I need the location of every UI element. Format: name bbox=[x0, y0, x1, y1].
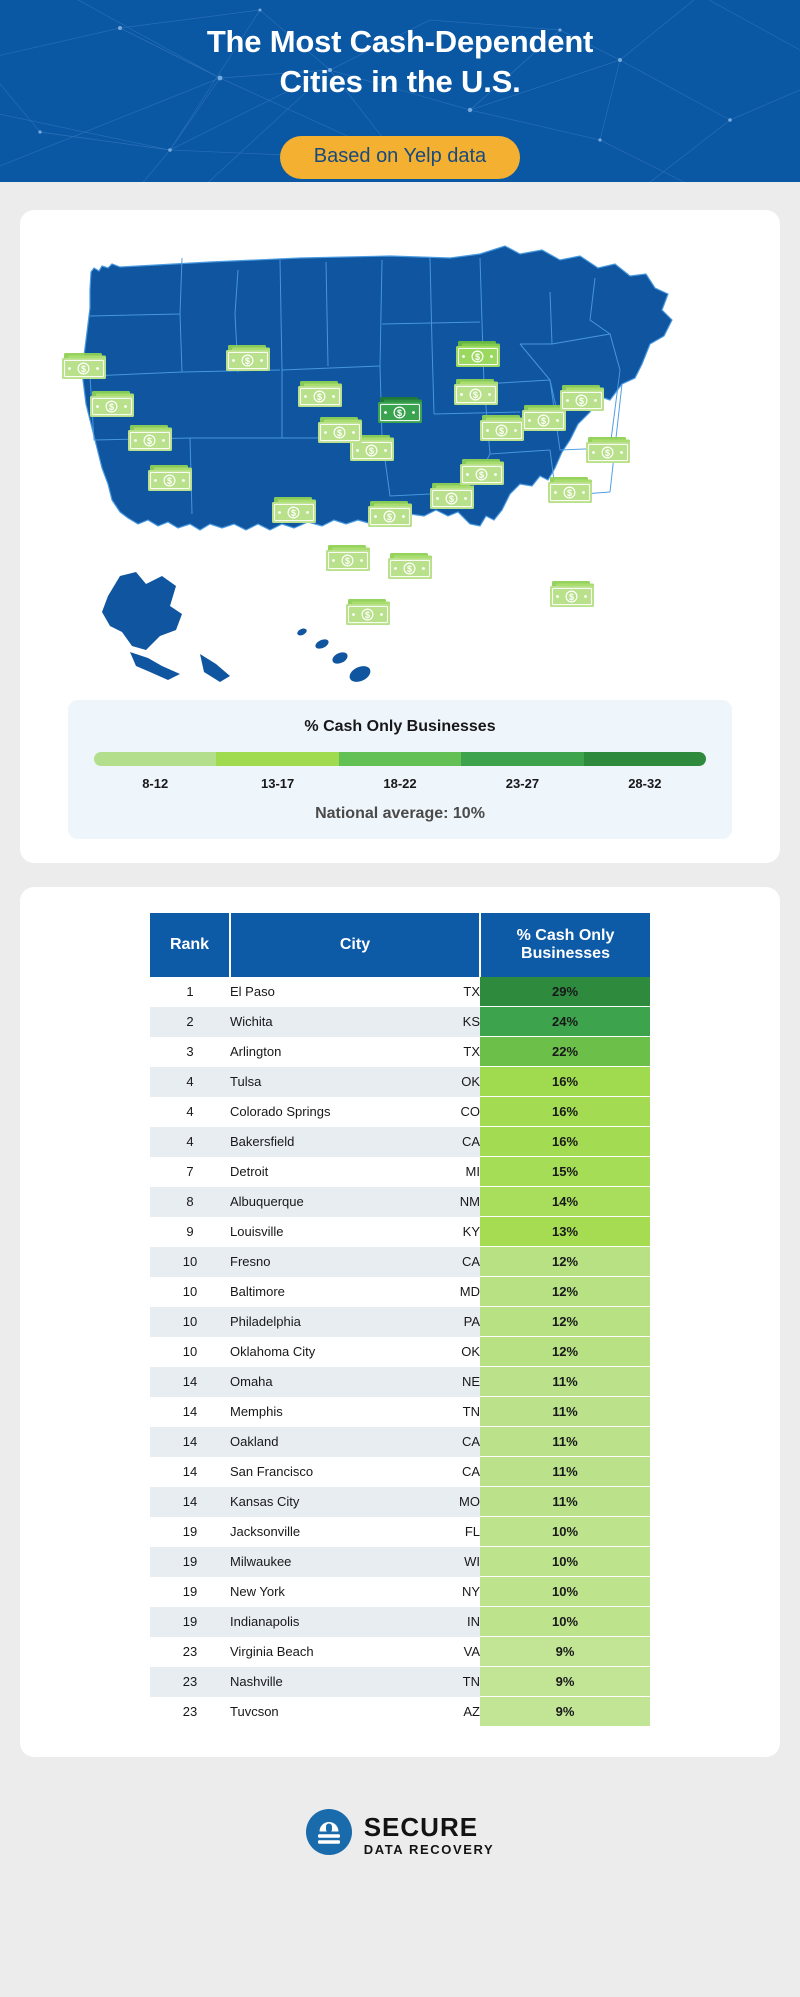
cell-city: Philadelphia bbox=[230, 1307, 355, 1337]
cell-percent: 16% bbox=[480, 1067, 650, 1097]
cell-rank: 10 bbox=[150, 1337, 230, 1367]
cell-rank: 23 bbox=[150, 1697, 230, 1727]
ranking-table-card: Rank City % Cash Only Businesses 1El Pas… bbox=[20, 887, 780, 1757]
cell-city: Jacksonville bbox=[230, 1517, 355, 1547]
cell-state: CA bbox=[355, 1427, 480, 1457]
table-row: 14MemphisTN11% bbox=[150, 1397, 650, 1427]
cell-rank: 4 bbox=[150, 1067, 230, 1097]
cell-rank: 3 bbox=[150, 1037, 230, 1067]
table-row: 19New YorkNY10% bbox=[150, 1577, 650, 1607]
cell-rank: 7 bbox=[150, 1157, 230, 1187]
cell-percent: 12% bbox=[480, 1277, 650, 1307]
table-row: 19IndianapolisIN10% bbox=[150, 1607, 650, 1637]
cell-percent: 12% bbox=[480, 1307, 650, 1337]
legend-segment-5 bbox=[584, 752, 706, 766]
cell-rank: 1 bbox=[150, 977, 230, 1007]
legend-label-2: 13-17 bbox=[216, 776, 338, 791]
table-row: 10Oklahoma CityOK12% bbox=[150, 1337, 650, 1367]
table-row: 23Virginia BeachVA9% bbox=[150, 1637, 650, 1667]
legend-segment-3 bbox=[339, 752, 461, 766]
cell-city: Albuquerque bbox=[230, 1187, 355, 1217]
brand-tagline: DATA RECOVERY bbox=[364, 1843, 495, 1856]
cell-city: Wichita bbox=[230, 1007, 355, 1037]
table-row: 1El PasoTX29% bbox=[150, 977, 650, 1007]
table-row: 10BaltimoreMD12% bbox=[150, 1277, 650, 1307]
cell-rank: 19 bbox=[150, 1547, 230, 1577]
legend-label-5: 28-32 bbox=[584, 776, 706, 791]
cell-state: NM bbox=[355, 1187, 480, 1217]
cell-state: TN bbox=[355, 1667, 480, 1697]
cell-state: FL bbox=[355, 1517, 480, 1547]
table-row: 23TuvcsonAZ9% bbox=[150, 1697, 650, 1727]
table-row: 23NashvilleTN9% bbox=[150, 1667, 650, 1697]
cell-rank: 19 bbox=[150, 1517, 230, 1547]
table-row: 10FresnoCA12% bbox=[150, 1247, 650, 1277]
cell-percent: 9% bbox=[480, 1697, 650, 1727]
us-map: $ $ bbox=[38, 224, 762, 694]
table-header-row: Rank City % Cash Only Businesses bbox=[150, 913, 650, 977]
cell-percent: 12% bbox=[480, 1247, 650, 1277]
cell-city: Virginia Beach bbox=[230, 1637, 355, 1667]
cell-state: TX bbox=[355, 1037, 480, 1067]
map-card: $ $ bbox=[20, 210, 780, 863]
footer: SECURE DATA RECOVERY bbox=[0, 1783, 800, 1894]
lock-icon bbox=[306, 1809, 352, 1860]
cell-percent: 11% bbox=[480, 1457, 650, 1487]
cell-state: CA bbox=[355, 1457, 480, 1487]
map-legend: % Cash Only Businesses 8-12 13-17 18-22 … bbox=[68, 700, 732, 839]
cell-rank: 8 bbox=[150, 1187, 230, 1217]
cell-city: Tuvcson bbox=[230, 1697, 355, 1727]
page-title-line1: The Most Cash-Dependent bbox=[207, 24, 593, 59]
legend-label-3: 18-22 bbox=[339, 776, 461, 791]
cell-rank: 14 bbox=[150, 1427, 230, 1457]
cell-rank: 23 bbox=[150, 1667, 230, 1697]
cell-state: KS bbox=[355, 1007, 480, 1037]
cell-rank: 14 bbox=[150, 1367, 230, 1397]
table-row: 14OmahaNE11% bbox=[150, 1367, 650, 1397]
table-row: 10PhiladelphiaPA12% bbox=[150, 1307, 650, 1337]
national-average-note: National average: 10% bbox=[90, 805, 710, 823]
legend-segment-1 bbox=[94, 752, 216, 766]
cell-state: VA bbox=[355, 1637, 480, 1667]
cell-city: Bakersfield bbox=[230, 1127, 355, 1157]
column-header-percent-line2: Businesses bbox=[521, 945, 610, 962]
cell-state: NE bbox=[355, 1367, 480, 1397]
cell-city: Indianapolis bbox=[230, 1607, 355, 1637]
table-row: 7DetroitMI15% bbox=[150, 1157, 650, 1187]
table-row: 4BakersfieldCA16% bbox=[150, 1127, 650, 1157]
cell-state: IN bbox=[355, 1607, 480, 1637]
brand-logo[interactable]: SECURE DATA RECOVERY bbox=[306, 1809, 495, 1860]
cell-percent: 16% bbox=[480, 1127, 650, 1157]
table-row: 4Colorado SpringsCO16% bbox=[150, 1097, 650, 1127]
cell-city: Louisville bbox=[230, 1217, 355, 1247]
cell-city: New York bbox=[230, 1577, 355, 1607]
cell-percent: 9% bbox=[480, 1637, 650, 1667]
cell-state: PA bbox=[355, 1307, 480, 1337]
cell-city: Memphis bbox=[230, 1397, 355, 1427]
cell-rank: 14 bbox=[150, 1487, 230, 1517]
column-header-rank: Rank bbox=[150, 913, 230, 977]
table-row: 2WichitaKS24% bbox=[150, 1007, 650, 1037]
cell-city: El Paso bbox=[230, 977, 355, 1007]
cell-city: Fresno bbox=[230, 1247, 355, 1277]
cell-rank: 2 bbox=[150, 1007, 230, 1037]
cell-state: NY bbox=[355, 1577, 480, 1607]
cell-percent: 24% bbox=[480, 1007, 650, 1037]
cell-state: TX bbox=[355, 977, 480, 1007]
cell-city: Colorado Springs bbox=[230, 1097, 355, 1127]
page-title: The Most Cash-Dependent Cities in the U.… bbox=[0, 22, 800, 101]
cell-state: OK bbox=[355, 1337, 480, 1367]
page-title-line2: Cities in the U.S. bbox=[280, 64, 521, 99]
table-row: 8AlbuquerqueNM14% bbox=[150, 1187, 650, 1217]
brand-logo-text: SECURE DATA RECOVERY bbox=[364, 1814, 495, 1856]
table-head: Rank City % Cash Only Businesses bbox=[150, 913, 650, 977]
legend-title: % Cash Only Businesses bbox=[90, 718, 710, 736]
cell-rank: 10 bbox=[150, 1307, 230, 1337]
cell-percent: 10% bbox=[480, 1607, 650, 1637]
legend-segment-2 bbox=[216, 752, 338, 766]
table-row: 9LouisvilleKY13% bbox=[150, 1217, 650, 1247]
cell-percent: 11% bbox=[480, 1367, 650, 1397]
cell-percent: 22% bbox=[480, 1037, 650, 1067]
column-header-percent-line1: % Cash Only bbox=[517, 927, 615, 944]
cell-percent: 11% bbox=[480, 1487, 650, 1517]
cell-state: MO bbox=[355, 1487, 480, 1517]
cell-state: TN bbox=[355, 1397, 480, 1427]
cell-rank: 14 bbox=[150, 1457, 230, 1487]
cell-percent: 16% bbox=[480, 1097, 650, 1127]
cell-rank: 23 bbox=[150, 1637, 230, 1667]
cell-percent: 15% bbox=[480, 1157, 650, 1187]
legend-labels: 8-12 13-17 18-22 23-27 28-32 bbox=[94, 776, 706, 791]
cell-rank: 10 bbox=[150, 1277, 230, 1307]
cell-city: Milwaukee bbox=[230, 1547, 355, 1577]
brand-name: SECURE bbox=[364, 1812, 478, 1842]
cell-percent: 10% bbox=[480, 1547, 650, 1577]
cell-rank: 9 bbox=[150, 1217, 230, 1247]
cell-state: AZ bbox=[355, 1697, 480, 1727]
legend-segment-4 bbox=[461, 752, 583, 766]
cell-percent: 13% bbox=[480, 1217, 650, 1247]
cell-rank: 14 bbox=[150, 1397, 230, 1427]
header-banner: The Most Cash-Dependent Cities in the U.… bbox=[0, 0, 800, 182]
column-header-city: City bbox=[230, 913, 480, 977]
cell-city: Nashville bbox=[230, 1667, 355, 1697]
cell-percent: 11% bbox=[480, 1427, 650, 1457]
legend-label-4: 23-27 bbox=[461, 776, 583, 791]
cell-percent: 10% bbox=[480, 1517, 650, 1547]
cell-state: WI bbox=[355, 1547, 480, 1577]
legend-label-1: 8-12 bbox=[94, 776, 216, 791]
cell-percent: 12% bbox=[480, 1337, 650, 1367]
cell-rank: 10 bbox=[150, 1247, 230, 1277]
cell-rank: 19 bbox=[150, 1607, 230, 1637]
table-row: 4TulsaOK16% bbox=[150, 1067, 650, 1097]
cell-percent: 9% bbox=[480, 1667, 650, 1697]
cell-city: Tulsa bbox=[230, 1067, 355, 1097]
cell-percent: 14% bbox=[480, 1187, 650, 1217]
ranking-table: Rank City % Cash Only Businesses 1El Pas… bbox=[150, 913, 650, 1727]
cell-state: MD bbox=[355, 1277, 480, 1307]
table-row: 19MilwaukeeWI10% bbox=[150, 1547, 650, 1577]
column-header-percent: % Cash Only Businesses bbox=[480, 913, 650, 977]
table-body: 1El PasoTX29%2WichitaKS24%3ArlingtonTX22… bbox=[150, 977, 650, 1727]
cell-rank: 4 bbox=[150, 1127, 230, 1157]
infographic-page: The Most Cash-Dependent Cities in the U.… bbox=[0, 0, 800, 1997]
table-row: 3ArlingtonTX22% bbox=[150, 1037, 650, 1067]
cell-percent: 10% bbox=[480, 1577, 650, 1607]
cell-city: Kansas City bbox=[230, 1487, 355, 1517]
cell-city: Baltimore bbox=[230, 1277, 355, 1307]
cell-state: MI bbox=[355, 1157, 480, 1187]
table-row: 14San FranciscoCA11% bbox=[150, 1457, 650, 1487]
cell-city: Oakland bbox=[230, 1427, 355, 1457]
cell-city: Arlington bbox=[230, 1037, 355, 1067]
cell-state: CA bbox=[355, 1247, 480, 1277]
table-row: 14Kansas CityMO11% bbox=[150, 1487, 650, 1517]
cell-percent: 29% bbox=[480, 977, 650, 1007]
cell-percent: 11% bbox=[480, 1397, 650, 1427]
cell-city: Omaha bbox=[230, 1367, 355, 1397]
cell-city: Oklahoma City bbox=[230, 1337, 355, 1367]
cell-state: KY bbox=[355, 1217, 480, 1247]
subtitle-badge: Based on Yelp data bbox=[280, 136, 520, 179]
cell-rank: 19 bbox=[150, 1577, 230, 1607]
cell-state: OK bbox=[355, 1067, 480, 1097]
subtitle-badge-wrap: Based on Yelp data bbox=[0, 136, 800, 179]
cell-city: San Francisco bbox=[230, 1457, 355, 1487]
cell-city: Detroit bbox=[230, 1157, 355, 1187]
legend-gradient-bar bbox=[94, 752, 706, 766]
table-row: 19JacksonvilleFL10% bbox=[150, 1517, 650, 1547]
table-row: 14OaklandCA11% bbox=[150, 1427, 650, 1457]
cell-rank: 4 bbox=[150, 1097, 230, 1127]
cell-state: CO bbox=[355, 1097, 480, 1127]
cell-state: CA bbox=[355, 1127, 480, 1157]
